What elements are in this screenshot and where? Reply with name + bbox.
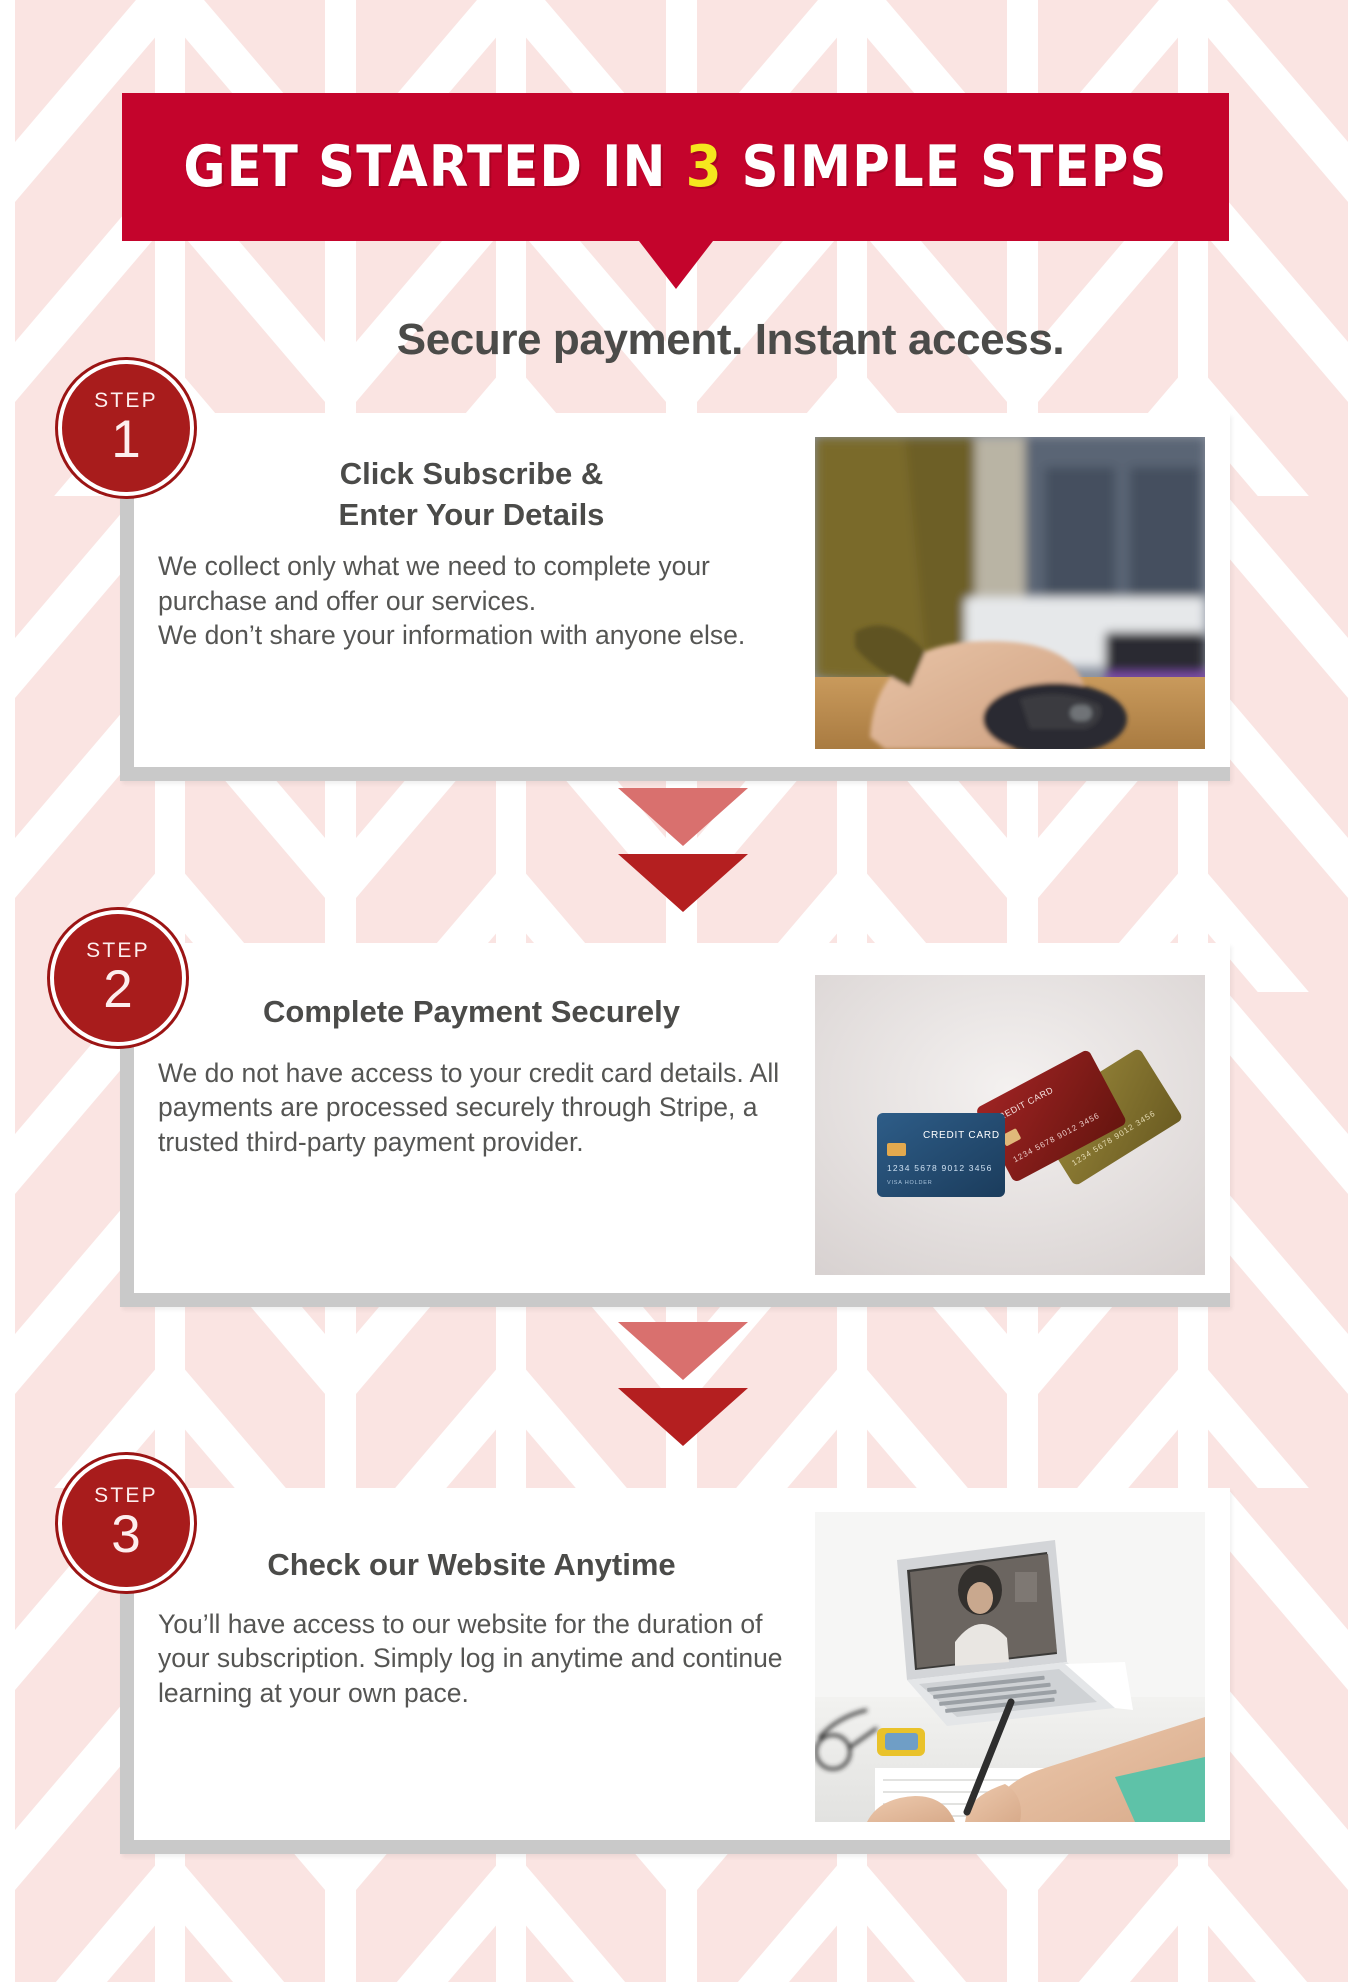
step-badge-1: STEP 1 xyxy=(58,360,194,496)
hand-on-mouse-photo xyxy=(815,437,1205,749)
arrow-down-dark-icon xyxy=(618,1388,748,1446)
svg-text:CREDIT CARD: CREDIT CARD xyxy=(923,1130,1000,1141)
step-card-3: Check our Website Anytime You’ll have ac… xyxy=(134,1488,1230,1840)
arrow-down-light-icon xyxy=(618,1322,748,1380)
arrow-step-1-to-2 xyxy=(0,788,1366,912)
step-body-1: We collect only what we need to complete… xyxy=(158,549,785,652)
step-card-1: Click Subscribe & Enter Your Details We … xyxy=(134,413,1230,767)
step-badge-number: 3 xyxy=(111,1508,140,1561)
step-body-3: You’ll have access to our website for th… xyxy=(158,1607,785,1710)
step-badge-number: 1 xyxy=(111,413,140,466)
svg-text:VISA HOLDER: VISA HOLDER xyxy=(887,1180,932,1186)
step-badge-2: STEP 2 xyxy=(50,910,186,1046)
header-banner-bar: Get Started in 3 Simple Steps xyxy=(122,93,1229,241)
banner-notch-triangle xyxy=(639,241,713,289)
title-part-pre: Get Started in xyxy=(183,134,685,200)
arrow-step-2-to-3 xyxy=(0,1322,1366,1446)
step-heading-line-2: Enter Your Details xyxy=(339,497,605,532)
step-card-frame-2: Complete Payment Securely We do not have… xyxy=(120,943,1230,1307)
step-card-2: Complete Payment Securely We do not have… xyxy=(134,943,1230,1293)
step-card-text-3: Check our Website Anytime You’ll have ac… xyxy=(134,1488,815,1740)
credit-cards-photo: CREDIT CARD 1234 5678 9012 3456 CREDIT C… xyxy=(815,975,1205,1275)
title-part-post: Simple Steps xyxy=(723,134,1168,200)
step-card-frame-3: Check our Website Anytime You’ll have ac… xyxy=(120,1488,1230,1854)
step-card-frame-1: Click Subscribe & Enter Your Details We … xyxy=(120,413,1230,781)
subtitle: Secure payment. Instant access. xyxy=(0,315,1366,365)
arrow-down-light-icon xyxy=(618,788,748,846)
step-card-text-1: Click Subscribe & Enter Your Details We … xyxy=(134,413,815,682)
step-heading-3: Check our Website Anytime xyxy=(158,1544,785,1585)
arrow-down-dark-icon xyxy=(618,854,748,912)
step-heading-line-1: Click Subscribe & xyxy=(340,456,604,491)
header-banner: Get Started in 3 Simple Steps xyxy=(122,93,1229,289)
svg-text:1234 5678 9012 3456: 1234 5678 9012 3456 xyxy=(887,1163,993,1173)
step-badge-label: STEP xyxy=(94,1485,158,1506)
step-badge-label: STEP xyxy=(94,390,158,411)
step-body-2: We do not have access to your credit car… xyxy=(158,1056,785,1159)
step-badge-3: STEP 3 xyxy=(58,1455,194,1591)
step-heading-1: Click Subscribe & Enter Your Details xyxy=(158,453,785,535)
laptop-online-class-photo xyxy=(815,1512,1205,1822)
step-badge-number: 2 xyxy=(103,963,132,1016)
step-card-text-2: Complete Payment Securely We do not have… xyxy=(134,943,815,1189)
page-title: Get Started in 3 Simple Steps xyxy=(183,134,1167,200)
infographic-page: Get Started in 3 Simple Steps Secure pay… xyxy=(0,0,1366,1982)
step-heading-2: Complete Payment Securely xyxy=(158,991,785,1032)
step-badge-label: STEP xyxy=(86,940,150,961)
title-number-highlight: 3 xyxy=(686,134,723,200)
